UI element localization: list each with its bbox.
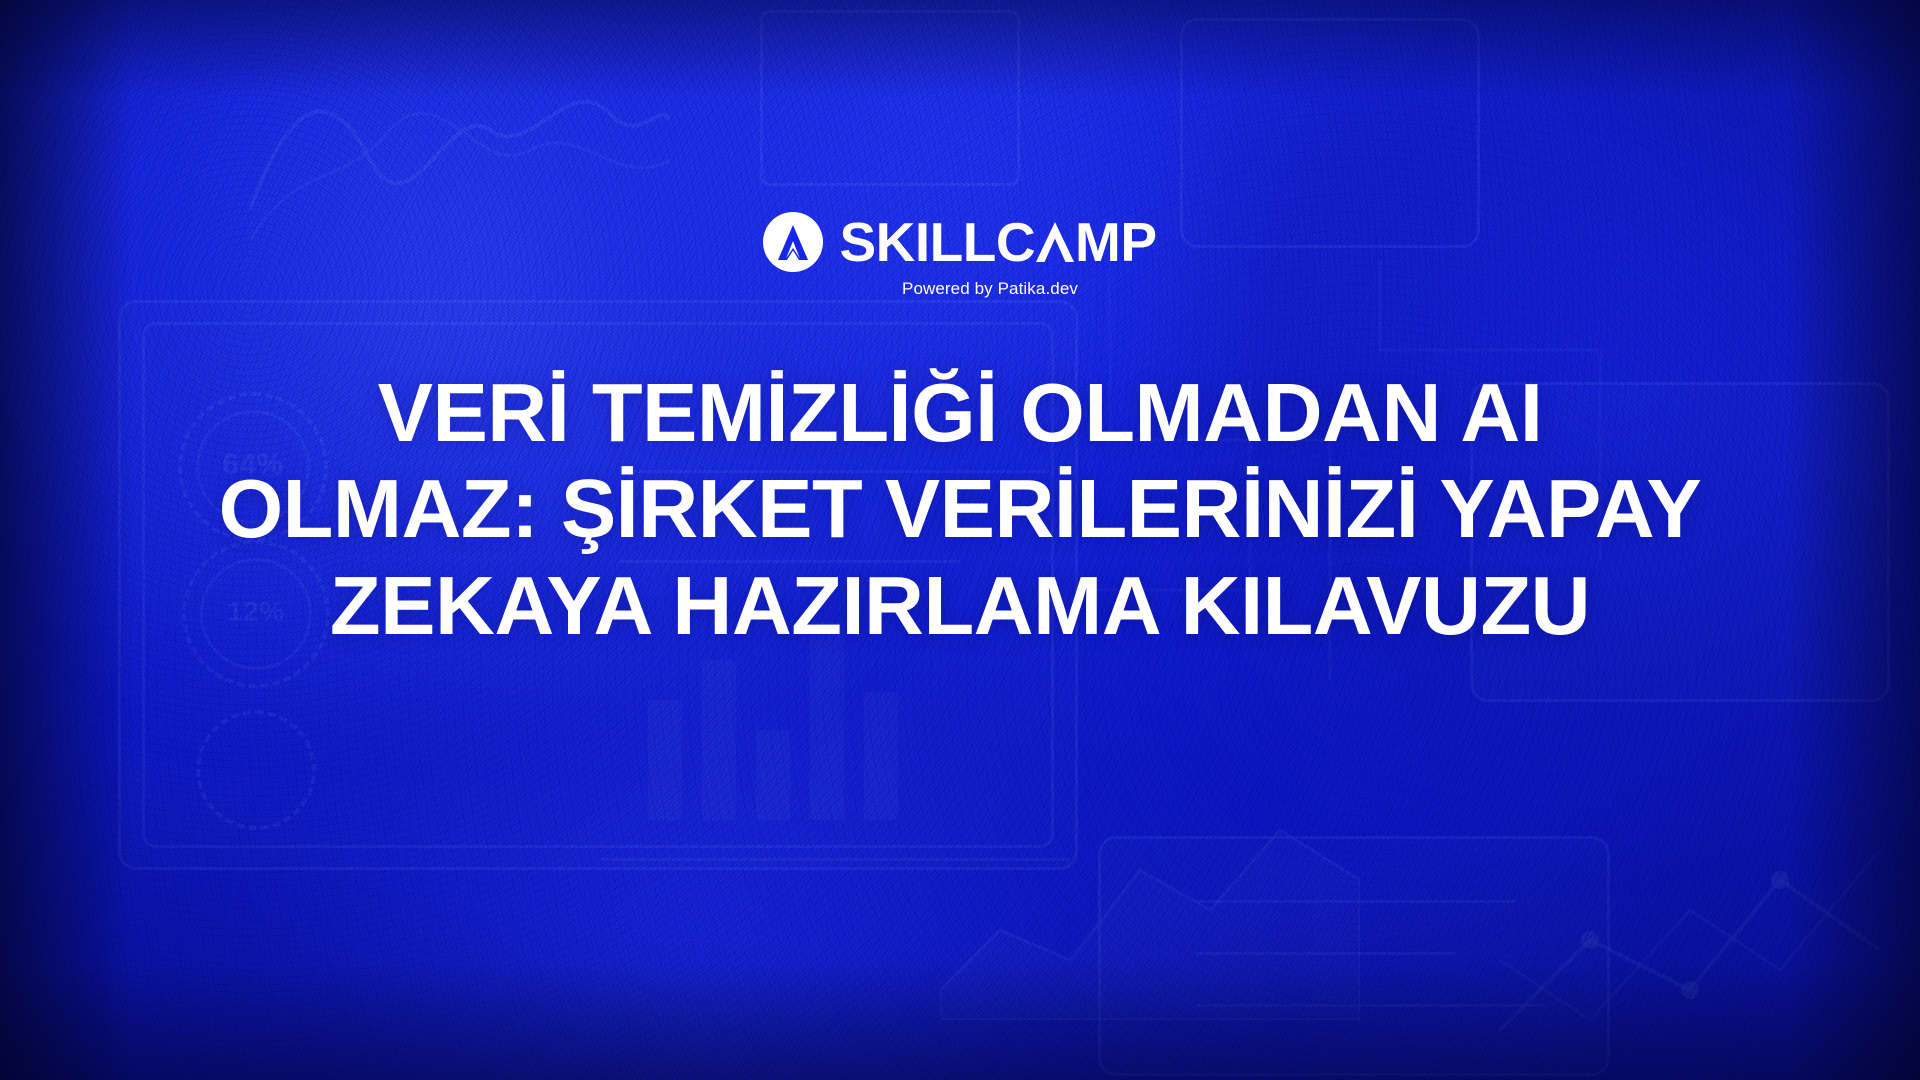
wordmark-text-1: SKILLC (839, 215, 1035, 270)
wordmark-text-2: MP (1075, 215, 1157, 270)
hero-banner: 64% 12% (0, 0, 1920, 1080)
page-title: VERİ TEMİZLİĞİ OLMADAN AI OLMAZ: ŞİRKET … (180, 365, 1740, 654)
skillcamp-wordmark: SKILLC MP (839, 215, 1156, 270)
brand-tagline: Powered by Patika.dev (902, 279, 1078, 299)
skillcamp-mountain-icon (763, 212, 823, 272)
headline-line-2: OLMAZ: ŞİRKET VERİLERİNİZİ YAPAY (180, 461, 1740, 557)
logo-row: SKILLC MP (763, 212, 1156, 272)
hero-content: SKILLC MP Powered by Patika.dev VERİ TEM… (0, 0, 1920, 1080)
headline-line-3: ZEKAYA HAZIRLAMA KILAVUZU (180, 558, 1740, 654)
wordmark-lambda-a-icon (1036, 222, 1074, 262)
brand-logo[interactable]: SKILLC MP Powered by Patika.dev (763, 212, 1156, 299)
headline-line-1: VERİ TEMİZLİĞİ OLMADAN AI (180, 365, 1740, 461)
